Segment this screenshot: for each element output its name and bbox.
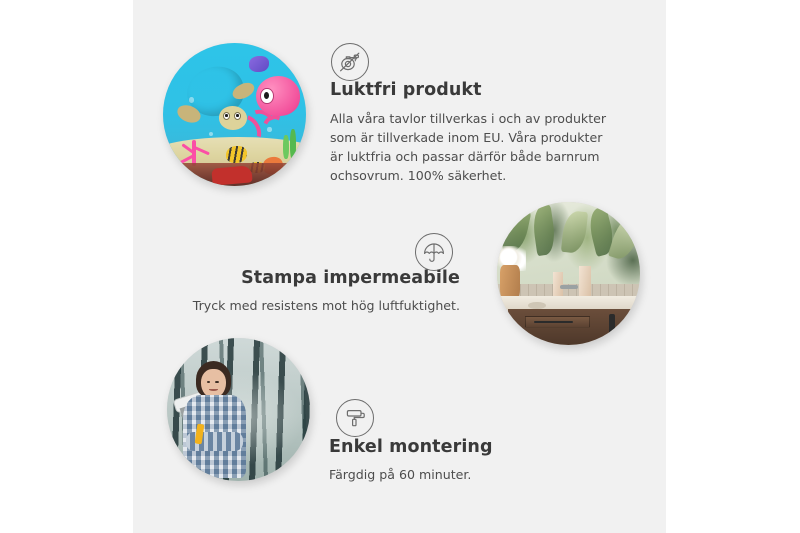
feature-block-enkel-montering: Enkel montering Färgdig på 60 minuter. (0, 0, 800, 533)
woman-eye (215, 381, 219, 383)
paint-roller-icon (336, 399, 374, 437)
woman-eye (207, 381, 211, 383)
installer-forest-wallpaper-thumbnail[interactable] (167, 338, 310, 481)
feature-text-enkel-montering: Enkel montering Färgdig på 60 minuter. (329, 437, 629, 484)
woman-smile (209, 388, 219, 391)
feature-title: Enkel montering (329, 437, 629, 459)
feature-description: Färgdig på 60 minuter. (329, 465, 629, 484)
feature-panel-page: Luktfri produkt Alla våra tavlor tillver… (0, 0, 800, 533)
woman-face (201, 369, 225, 398)
forest-scene (167, 338, 310, 481)
